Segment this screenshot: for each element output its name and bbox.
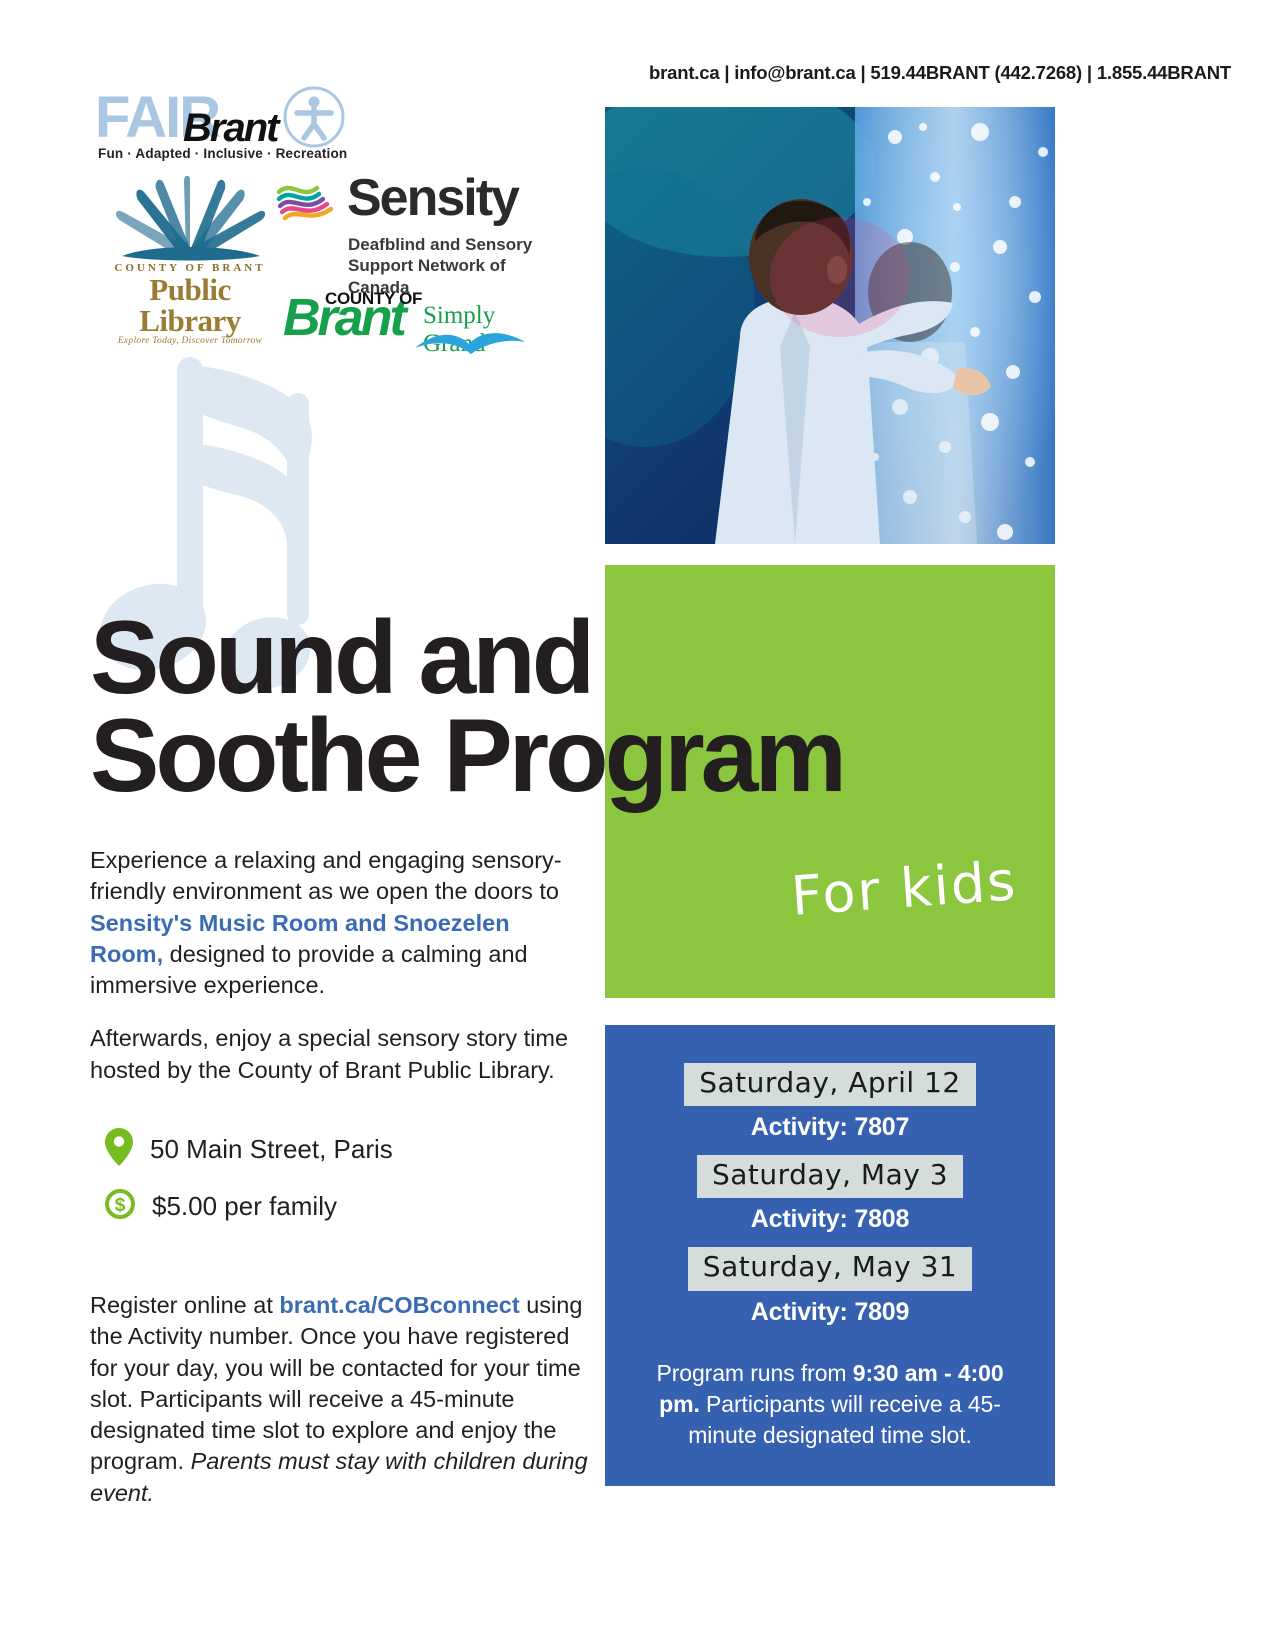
- program-note-part2: Participants will receive a 45-minute de…: [688, 1391, 1001, 1448]
- session-item: Saturday, April 12 Activity: 7807: [605, 1063, 1055, 1142]
- rainbow-swoosh-icon: [273, 178, 337, 231]
- sensity-subtitle-line1: Deafblind and Sensory: [348, 234, 563, 255]
- intro-paragraph-2: Afterwards, enjoy a special sensory stor…: [90, 1023, 580, 1086]
- open-book-fan-icon: [100, 176, 280, 264]
- fair-brant-logo: FAIR Brant Fun · Adapted · Inclusive · R…: [95, 88, 350, 158]
- intro-p1-part1: Experience a relaxing and engaging senso…: [90, 847, 562, 904]
- session-activity: Activity: 7807: [605, 1113, 1055, 1142]
- title-line-2: Soothe Program: [90, 708, 843, 806]
- cob-county-label: COUNTY OF: [325, 289, 422, 309]
- logo-group: FAIR Brant Fun · Adapted · Inclusive · R…: [95, 88, 565, 158]
- svg-text:$: $: [115, 1195, 126, 1216]
- accessibility-person-icon: [283, 86, 345, 153]
- program-hours-note: Program runs from 9:30 am - 4:00 pm. Par…: [605, 1340, 1055, 1451]
- intro-copy: Experience a relaxing and engaging senso…: [90, 845, 580, 1108]
- map-pin-icon: [105, 1128, 133, 1171]
- session-date: Saturday, May 31: [688, 1247, 972, 1290]
- intro-paragraph-1: Experience a relaxing and engaging senso…: [90, 845, 580, 1001]
- fair-tagline: Fun · Adapted · Inclusive · Recreation: [98, 146, 347, 161]
- price-text: $5.00 per family: [152, 1191, 337, 1222]
- public-library-logo: COUNTY OF BRANT Public Library Explore T…: [100, 176, 280, 346]
- page-title: Sound and Soothe Program: [90, 610, 843, 806]
- register-part1: Register online at: [90, 1292, 279, 1318]
- location-text: 50 Main Street, Paris: [150, 1134, 393, 1165]
- fair-brant-wordmark: Brant: [183, 106, 277, 151]
- session-date: Saturday, May 3: [697, 1155, 963, 1198]
- title-line-1: Sound and: [90, 610, 843, 708]
- session-activity: Activity: 7808: [605, 1205, 1055, 1234]
- sensity-wordmark: Sensity: [347, 174, 518, 223]
- sensory-room-photo: [605, 107, 1055, 544]
- dollar-circle-icon: $: [105, 1189, 135, 1224]
- program-note-part1: Program runs from: [656, 1360, 852, 1386]
- session-activity: Activity: 7809: [605, 1298, 1055, 1327]
- register-part2: using the Activity number. Once you have…: [90, 1292, 582, 1474]
- session-item: Saturday, May 31 Activity: 7809: [605, 1247, 1055, 1326]
- library-name: Public Library: [100, 274, 280, 336]
- registration-copy: Register online at brant.ca/COBconnect u…: [90, 1290, 590, 1509]
- price-row: $ $5.00 per family: [105, 1189, 393, 1224]
- event-details-list: 50 Main Street, Paris $ $5.00 per family: [105, 1128, 393, 1242]
- county-of-brant-logo: Brant COUNTY OF Simply Grand: [283, 288, 533, 358]
- registration-link[interactable]: brant.ca/COBconnect: [279, 1292, 519, 1318]
- for-kids-label: For kids: [789, 849, 1019, 928]
- session-date: Saturday, April 12: [684, 1063, 976, 1106]
- sessions-panel: Saturday, April 12 Activity: 7807 Saturd…: [605, 1025, 1055, 1486]
- blue-wave-icon: [413, 328, 528, 363]
- sensity-logo: Sensity Deafblind and Sensory Support Ne…: [273, 178, 563, 298]
- location-row: 50 Main Street, Paris: [105, 1128, 393, 1171]
- session-item: Saturday, May 3 Activity: 7808: [605, 1155, 1055, 1234]
- contact-info-line: brant.ca | info@brant.ca | 519.44BRANT (…: [649, 62, 1231, 84]
- library-tagline: Explore Today, Discover Tomorrow: [100, 336, 280, 346]
